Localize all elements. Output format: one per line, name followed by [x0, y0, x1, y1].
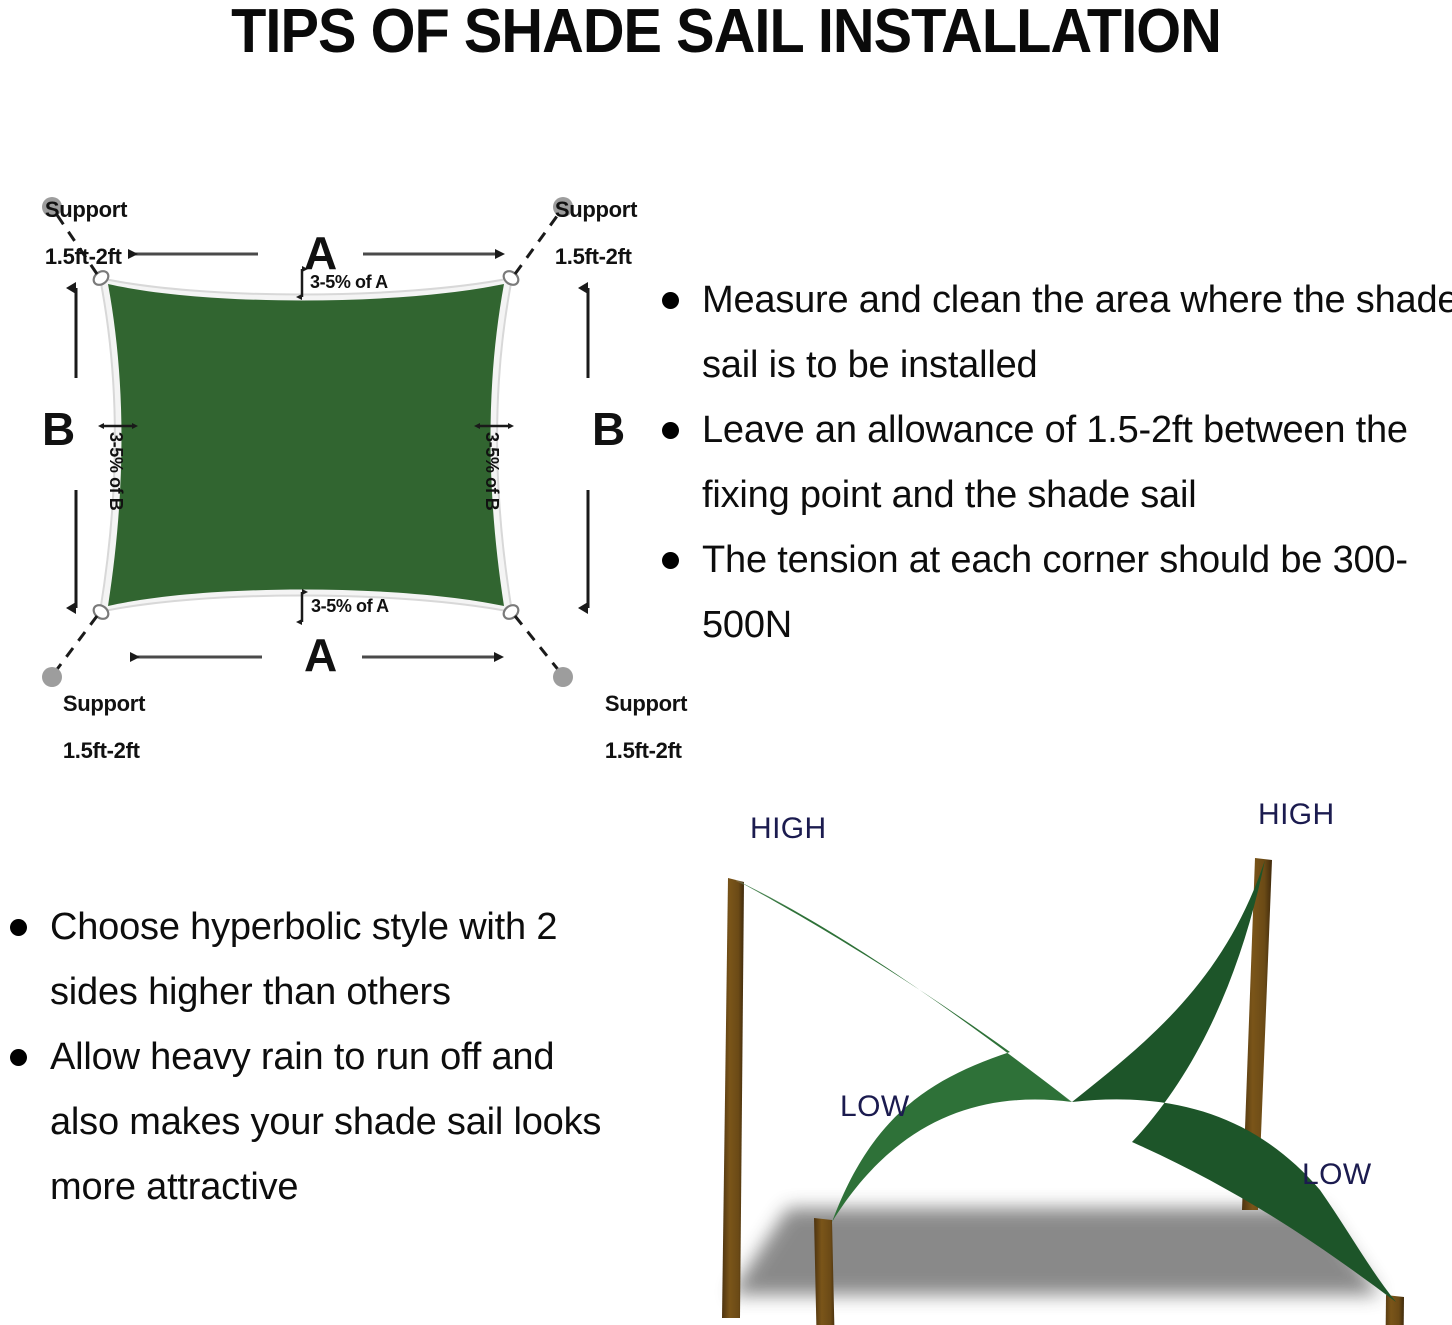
dimension-letter-left: B [42, 402, 74, 456]
support-dashed-line-bottom-left [55, 616, 97, 672]
curvature-label-bottom: 3-5% of A [311, 596, 389, 617]
curvature-label-left: 3-5% of B [105, 432, 126, 510]
post-high-left [722, 878, 744, 1318]
hyperbolic-shade-sail-illustration: HIGH HIGH LOW LOW [680, 790, 1452, 1325]
label-high-left: HIGH [750, 812, 827, 846]
hyperbolic-style-tips-list: Choose hyperbolic style with 2 sides hig… [0, 895, 630, 1220]
support-label-bottom-right: Support 1.5ft-2ft [570, 668, 687, 787]
list-item: Choose hyperbolic style with 2 sides hig… [0, 895, 630, 1025]
support-label-line1: Support [605, 691, 687, 716]
curvature-label-right: 3-5% of B [481, 432, 502, 510]
page-title: TIPS OF SHADE SAIL INSTALLATION [51, 0, 1401, 67]
label-low-right: LOW [1302, 1158, 1372, 1192]
post-low-right [1384, 1295, 1404, 1325]
label-high-right: HIGH [1258, 798, 1335, 832]
support-label-line2: 1.5ft-2ft [63, 738, 140, 763]
support-label-line2: 1.5ft-2ft [45, 244, 122, 269]
dimension-letter-right: B [592, 402, 624, 456]
dimension-letter-bottom: A [304, 628, 336, 682]
support-label-top-right: Support 1.5ft-2ft [520, 174, 637, 293]
shade-sail-instruction-page: TIPS OF SHADE SAIL INSTALLATION [0, 0, 1452, 1325]
support-label-line2: 1.5ft-2ft [555, 244, 632, 269]
list-item: Leave an allowance of 1.5-2ft between th… [648, 398, 1452, 528]
support-label-line1: Support [45, 197, 127, 222]
support-label-line2: 1.5ft-2ft [605, 738, 682, 763]
installation-tips-list: Measure and clean the area where the sha… [648, 268, 1452, 658]
list-item: The tension at each corner should be 300… [648, 528, 1452, 658]
support-label-line1: Support [555, 197, 637, 222]
shade-sail-fabric [108, 284, 504, 606]
support-dashed-line-bottom-right [515, 616, 560, 672]
curvature-label-top: 3-5% of A [310, 272, 388, 293]
list-item: Allow heavy rain to run off and also mak… [0, 1025, 630, 1220]
list-item: Measure and clean the area where the sha… [648, 268, 1452, 398]
rectangle-shade-sail-dimension-diagram: Support 1.5ft-2ft Support 1.5ft-2ft Supp… [0, 160, 660, 740]
support-label-top-left: Support 1.5ft-2ft [10, 174, 127, 293]
support-label-line1: Support [63, 691, 145, 716]
label-low-left: LOW [840, 1090, 910, 1124]
support-label-bottom-left: Support 1.5ft-2ft [28, 668, 145, 787]
